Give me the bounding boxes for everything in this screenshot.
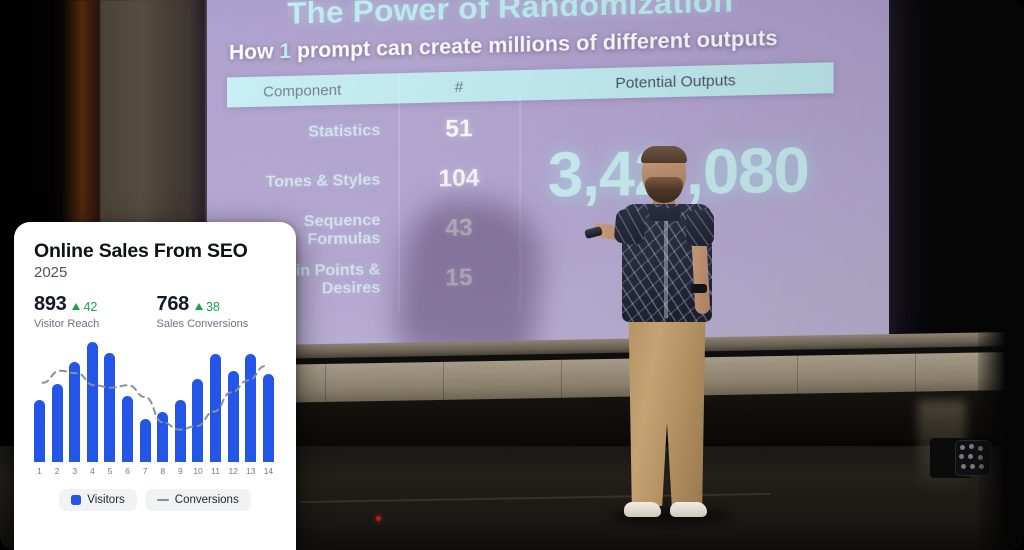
chart-x-label: 9 <box>175 466 186 476</box>
metric-visitor-reach-value: 893 <box>34 293 66 316</box>
table-header-potential-outputs: Potential Outputs <box>520 69 834 94</box>
legend-item-conversions[interactable]: Conversions <box>145 489 251 511</box>
speaker-shirt-placket <box>664 214 668 318</box>
legend-square-icon <box>71 495 81 505</box>
metric-visitor-reach-label: Visitor Reach <box>34 318 154 330</box>
card-title: Online Sales From SEO <box>34 240 276 263</box>
chart-x-label: 7 <box>140 466 151 476</box>
metric-sales-conversions-delta-value: 38 <box>206 300 220 314</box>
legend-dash-icon <box>157 499 169 501</box>
chart-legend: Visitors Conversions <box>34 489 276 511</box>
chart-x-label: 14 <box>263 466 274 476</box>
right-edge-post <box>978 330 1024 550</box>
metric-sales-conversions-label: Sales Conversions <box>157 318 277 330</box>
metric-visitor-reach: 893 42 Visitor Reach <box>34 293 154 330</box>
chart-x-label: 12 <box>228 466 239 476</box>
presentation-slide: The Power of Randomization How 1 prompt … <box>207 0 889 364</box>
table-cell-component: Statistics <box>227 122 399 143</box>
conversions-trend-line <box>34 342 274 462</box>
chart-x-label: 11 <box>210 466 221 476</box>
chart-x-label: 13 <box>245 466 256 476</box>
table-header-count: # <box>399 77 520 97</box>
trend-up-icon <box>195 303 203 310</box>
legend-label-visitors: Visitors <box>87 494 125 506</box>
legend-label-conversions: Conversions <box>175 494 239 506</box>
analytics-card: Online Sales From SEO 2025 893 42 Visito… <box>14 222 296 550</box>
slide-subtitle-number: 1 <box>279 40 291 63</box>
metric-sales-conversions-delta: 38 <box>195 300 220 314</box>
speaker-beard <box>645 177 683 203</box>
slide-subtitle-suffix: prompt can create millions of different … <box>291 27 778 63</box>
chart-x-label: 6 <box>122 466 133 476</box>
table-header-component: Component <box>227 80 399 101</box>
speaker-wristwatch <box>691 284 707 293</box>
chart-x-label: 4 <box>87 466 98 476</box>
metric-sales-conversions: 768 38 Sales Conversions <box>157 293 277 330</box>
screenshot-root: The Power of Randomization How 1 prompt … <box>0 0 1024 550</box>
sales-chart <box>34 342 274 462</box>
chart-x-label: 10 <box>192 466 203 476</box>
slide-title: The Power of Randomization <box>287 0 772 32</box>
table-cell-count: 51 <box>399 113 520 144</box>
projection-screen: The Power of Randomization How 1 prompt … <box>207 0 889 364</box>
speaker-figure <box>585 148 745 550</box>
metrics-row: 893 42 Visitor Reach 768 38 Sales Conv <box>34 293 276 330</box>
speaker-shoe-right <box>670 502 707 517</box>
table-cell-component: Tones & Styles <box>227 171 399 192</box>
conversions-trend-path <box>43 366 266 430</box>
metric-sales-conversions-value: 768 <box>157 293 189 316</box>
metric-sales-conversions-top: 768 38 <box>157 293 277 316</box>
metric-visitor-reach-top: 893 42 <box>34 293 154 316</box>
trend-up-icon <box>72 303 80 310</box>
table-cell-count: 104 <box>399 163 520 194</box>
legend-item-visitors[interactable]: Visitors <box>59 489 137 511</box>
speaker-hair <box>641 146 687 163</box>
chart-x-axis: 1234567891011121314 <box>34 466 274 476</box>
speaker-shoe-left <box>624 502 661 517</box>
chart-x-label: 3 <box>69 466 80 476</box>
slide-subtitle-prefix: How <box>229 40 279 64</box>
card-year: 2025 <box>34 264 276 281</box>
chart-x-label: 1 <box>34 466 45 476</box>
chart-x-label: 5 <box>104 466 115 476</box>
chart-x-label: 2 <box>52 466 63 476</box>
speaker-sleeve-left <box>613 209 646 246</box>
speaker-pants <box>627 316 707 506</box>
metric-visitor-reach-delta: 42 <box>72 300 97 314</box>
chart-x-label: 8 <box>157 466 168 476</box>
metric-visitor-reach-delta-value: 42 <box>83 300 97 314</box>
floor-marker-light <box>376 516 381 521</box>
speaker-sleeve-right <box>686 210 714 246</box>
